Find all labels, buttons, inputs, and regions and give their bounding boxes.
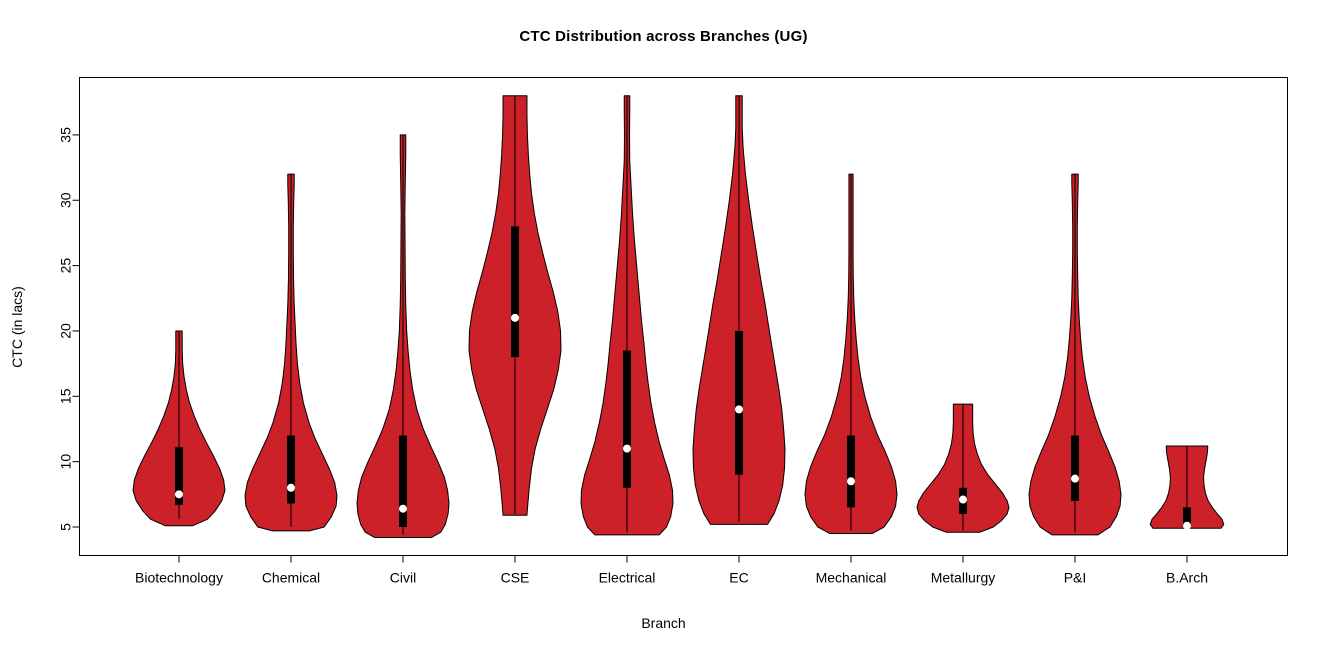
- y-axis-tick-label: 25: [58, 258, 74, 274]
- x-axis-tick-label-electrical: Electrical: [599, 570, 656, 586]
- iqr-box: [735, 331, 743, 475]
- median-point: [175, 490, 183, 498]
- violin-ec: [693, 96, 785, 525]
- median-point: [735, 405, 743, 413]
- y-axis-tick-label: 10: [58, 454, 74, 470]
- violin-b-arch: [1150, 446, 1224, 530]
- x-axis-tick-label-biotechnology: Biotechnology: [135, 570, 223, 586]
- median-point: [623, 445, 631, 453]
- iqr-box: [399, 436, 407, 527]
- median-point: [1183, 522, 1191, 530]
- x-axis-tick-label-ec: EC: [729, 570, 748, 586]
- iqr-box: [1071, 436, 1079, 501]
- x-axis-tick-label-p-i: P&I: [1064, 570, 1087, 586]
- iqr-box: [287, 436, 295, 504]
- y-axis-tick-label: 5: [58, 523, 74, 531]
- x-axis-tick-label-chemical: Chemical: [262, 570, 320, 586]
- iqr-box: [511, 226, 519, 357]
- violin-plot-figure: CTC Distribution across Branches (UG) CT…: [0, 0, 1327, 653]
- violin-cse: [469, 96, 561, 516]
- x-axis-tick-label-cse: CSE: [501, 570, 530, 586]
- x-axis-tick-label-metallurgy: Metallurgy: [931, 570, 996, 586]
- y-axis-tick-label: 20: [58, 323, 74, 339]
- x-axis-tick-label-mechanical: Mechanical: [816, 570, 887, 586]
- iqr-box: [623, 351, 631, 488]
- median-point: [287, 484, 295, 492]
- iqr-box: [847, 436, 855, 508]
- violin-metallurgy: [917, 404, 1009, 532]
- violin-biotechnology: [133, 331, 225, 526]
- violin-electrical: [581, 96, 673, 535]
- median-point: [847, 477, 855, 485]
- y-axis-tick-label: 35: [58, 127, 74, 143]
- violin-chemical: [245, 174, 337, 531]
- violin-civil: [357, 135, 449, 538]
- median-point: [1071, 475, 1079, 483]
- median-point: [511, 314, 519, 322]
- median-point: [959, 496, 967, 504]
- violins-layer: [133, 96, 1224, 538]
- x-axis-tick-label-civil: Civil: [390, 570, 416, 586]
- median-point: [399, 505, 407, 513]
- y-axis-tick-label: 15: [58, 388, 74, 404]
- x-axis-tick-label-b-arch: B.Arch: [1166, 570, 1208, 586]
- violin-mechanical: [805, 174, 897, 533]
- y-axis-tick-label: 30: [58, 192, 74, 208]
- violin-p-i: [1029, 174, 1121, 535]
- plot-canvas: 5101520253035BiotechnologyChemicalCivilC…: [0, 0, 1327, 653]
